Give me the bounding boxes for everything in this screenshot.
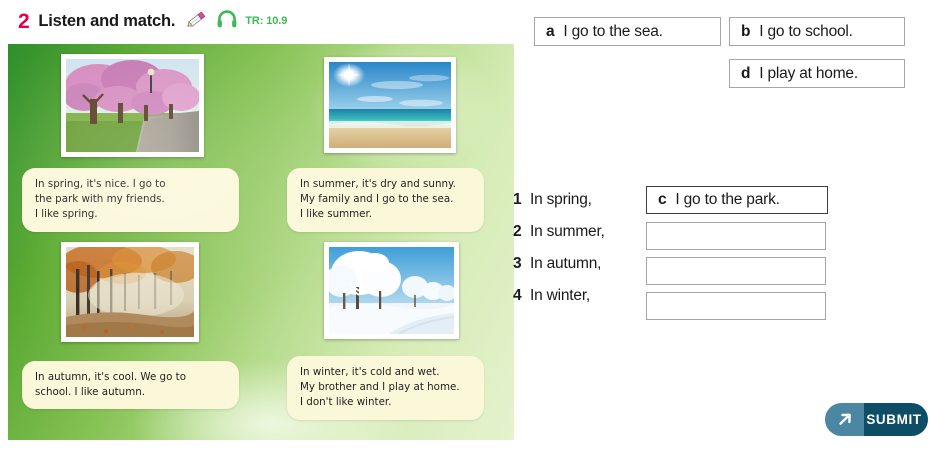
bubble-autumn-line-1: In autumn, it's cool. We go to xyxy=(35,370,227,385)
drop-zone-4[interactable] xyxy=(646,292,826,320)
photo-spring xyxy=(61,54,204,157)
question-1-number: 1 xyxy=(513,191,530,209)
question-2-number: 2 xyxy=(513,223,530,241)
bubble-winter-line-1: In winter, it's cold and wet. xyxy=(300,365,472,380)
exercise-number: 2 xyxy=(18,11,29,32)
headphone-icon xyxy=(216,9,238,34)
bubble-spring-line-1: In spring, it's nice. I go to xyxy=(35,177,227,192)
exercise-page: 2 Listen and match. TR: 10.9 xyxy=(0,0,936,455)
track-label: TR: 10.9 xyxy=(245,15,287,27)
question-row-4: 4 In winter, xyxy=(513,284,590,308)
bubble-summer-line-2: My family and I go to the sea. xyxy=(300,192,472,207)
drop-zone-2[interactable] xyxy=(646,222,826,250)
pencil-icon xyxy=(186,9,208,34)
question-row-3: 3 In autumn, xyxy=(513,252,601,276)
option-tile-a[interactable]: a I go to the sea. xyxy=(534,17,721,46)
drop-zone-1-text: I go to the park. xyxy=(675,191,779,209)
bubble-winter-line-3: I don't like winter. xyxy=(300,395,472,410)
question-row-2: 2 In summer, xyxy=(513,220,605,244)
drop-zone-3[interactable] xyxy=(646,257,826,285)
photo-winter xyxy=(324,242,459,339)
option-d-text: I play at home. xyxy=(759,65,858,83)
drop-zone-1-letter: c xyxy=(658,191,666,209)
drop-zone-1[interactable]: c I go to the park. xyxy=(646,186,828,214)
arrow-up-right-icon xyxy=(825,403,864,436)
bubble-spring: In spring, it's nice. I go to the park w… xyxy=(22,168,239,232)
option-a-text: I go to the sea. xyxy=(563,23,662,41)
exercise-title: Listen and match. xyxy=(38,12,175,31)
bubble-winter: In winter, it's cold and wet. My brother… xyxy=(287,356,484,420)
question-row-1: 1 In spring, xyxy=(513,188,592,212)
bubble-winter-line-2: My brother and I play at home. xyxy=(300,380,472,395)
option-b-text: I go to school. xyxy=(759,23,853,41)
option-tile-d[interactable]: d I play at home. xyxy=(729,59,905,88)
option-tile-b[interactable]: b I go to school. xyxy=(729,17,905,46)
bubble-spring-line-2: the park with my friends. xyxy=(35,192,227,207)
option-a-letter: a xyxy=(546,23,554,41)
submit-label: SUBMIT xyxy=(866,412,921,427)
bubble-summer-line-3: I like summer. xyxy=(300,207,472,222)
bubble-autumn-line-2: school. I like autumn. xyxy=(35,385,227,400)
bubble-summer: In summer, it's dry and sunny. My family… xyxy=(287,168,484,232)
question-1-text: In spring, xyxy=(530,191,592,209)
question-4-number: 4 xyxy=(513,287,530,305)
submit-button[interactable]: SUBMIT xyxy=(825,403,928,436)
bubble-summer-line-1: In summer, it's dry and sunny. xyxy=(300,177,472,192)
bubble-spring-line-3: I like spring. xyxy=(35,207,227,222)
question-3-number: 3 xyxy=(513,255,530,273)
question-2-text: In summer, xyxy=(530,223,605,241)
submit-label-container: SUBMIT xyxy=(864,403,928,436)
photo-autumn xyxy=(61,242,199,342)
question-4-text: In winter, xyxy=(530,287,590,305)
bubble-autumn: In autumn, it's cool. We go to school. I… xyxy=(22,361,239,409)
option-b-letter: b xyxy=(741,23,750,41)
seasons-illustration-panel: In spring, it's nice. I go to the park w… xyxy=(8,44,514,440)
exercise-header: 2 Listen and match. TR: 10.9 xyxy=(18,8,287,34)
question-3-text: In autumn, xyxy=(530,255,601,273)
option-d-letter: d xyxy=(741,65,750,83)
photo-summer xyxy=(324,57,456,153)
